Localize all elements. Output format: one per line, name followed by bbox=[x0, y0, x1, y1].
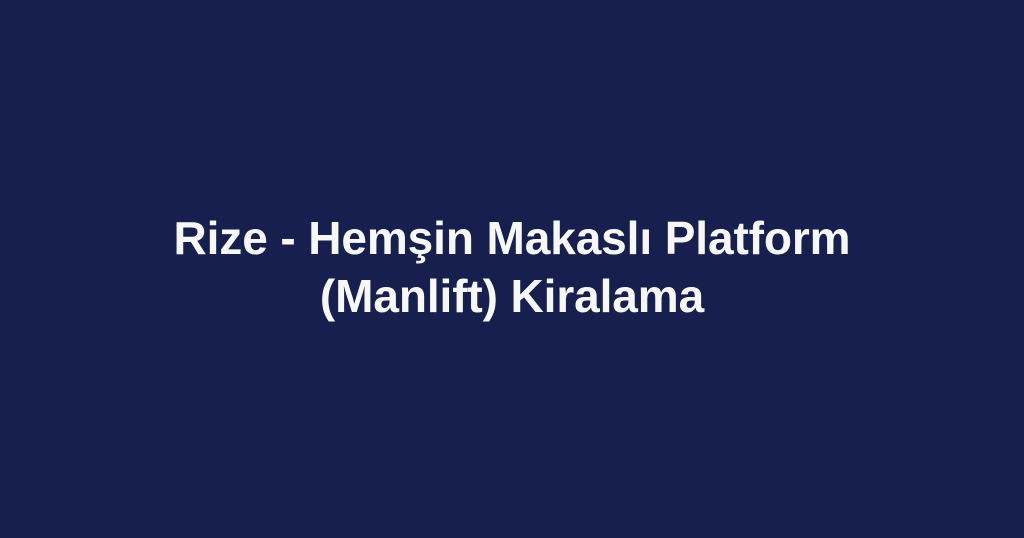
headline-block: Rize - Hemşin Makaslı Platform (Manlift)… bbox=[72, 209, 952, 325]
page-title: Rize - Hemşin Makaslı Platform (Manlift)… bbox=[96, 209, 928, 325]
preview-card: Rize - Hemşin Makaslı Platform (Manlift)… bbox=[0, 0, 1024, 538]
headline-line-1: Rize - Hemşin Makaslı Platform bbox=[96, 209, 928, 267]
headline-line-2: (Manlift) Kiralama bbox=[96, 267, 928, 325]
